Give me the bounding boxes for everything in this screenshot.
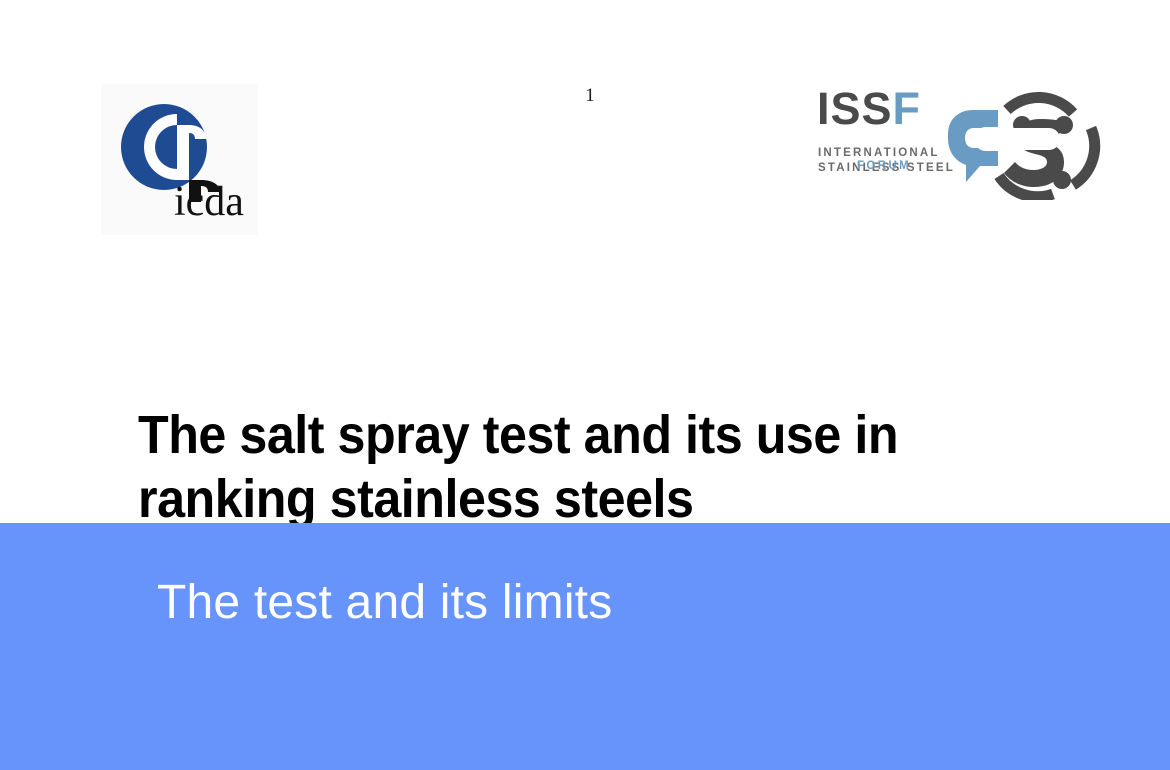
issf-subtitle-line-2: STAINLESS STEEL xyxy=(818,161,955,176)
issf-wordmark-f: F xyxy=(893,83,922,134)
section-banner xyxy=(0,523,1170,770)
issf-subtitle-line-1: INTERNATIONAL xyxy=(818,146,955,161)
icda-logo: icda xyxy=(101,84,258,235)
issf-logo: ISSF INTERNATIONAL STAINLESS STEEL xyxy=(812,84,1102,200)
section-banner-label: The test and its limits xyxy=(157,574,612,632)
issf-wordmark-iss: ISS xyxy=(817,83,893,134)
slide-title: The salt spray test and its use in ranki… xyxy=(138,403,956,531)
issf-emblem-icon xyxy=(940,84,1102,200)
icda-logo-mark: icda xyxy=(101,84,258,235)
presentation-slide: icda 1 ISSF INTERNATIONAL STAINLESS STEE… xyxy=(0,0,1170,770)
issf-wordmark: ISSF xyxy=(817,86,921,131)
svg-text:icda: icda xyxy=(174,179,244,225)
issf-subtitle: INTERNATIONAL STAINLESS STEEL xyxy=(818,146,955,176)
page-number: 1 xyxy=(570,86,610,105)
